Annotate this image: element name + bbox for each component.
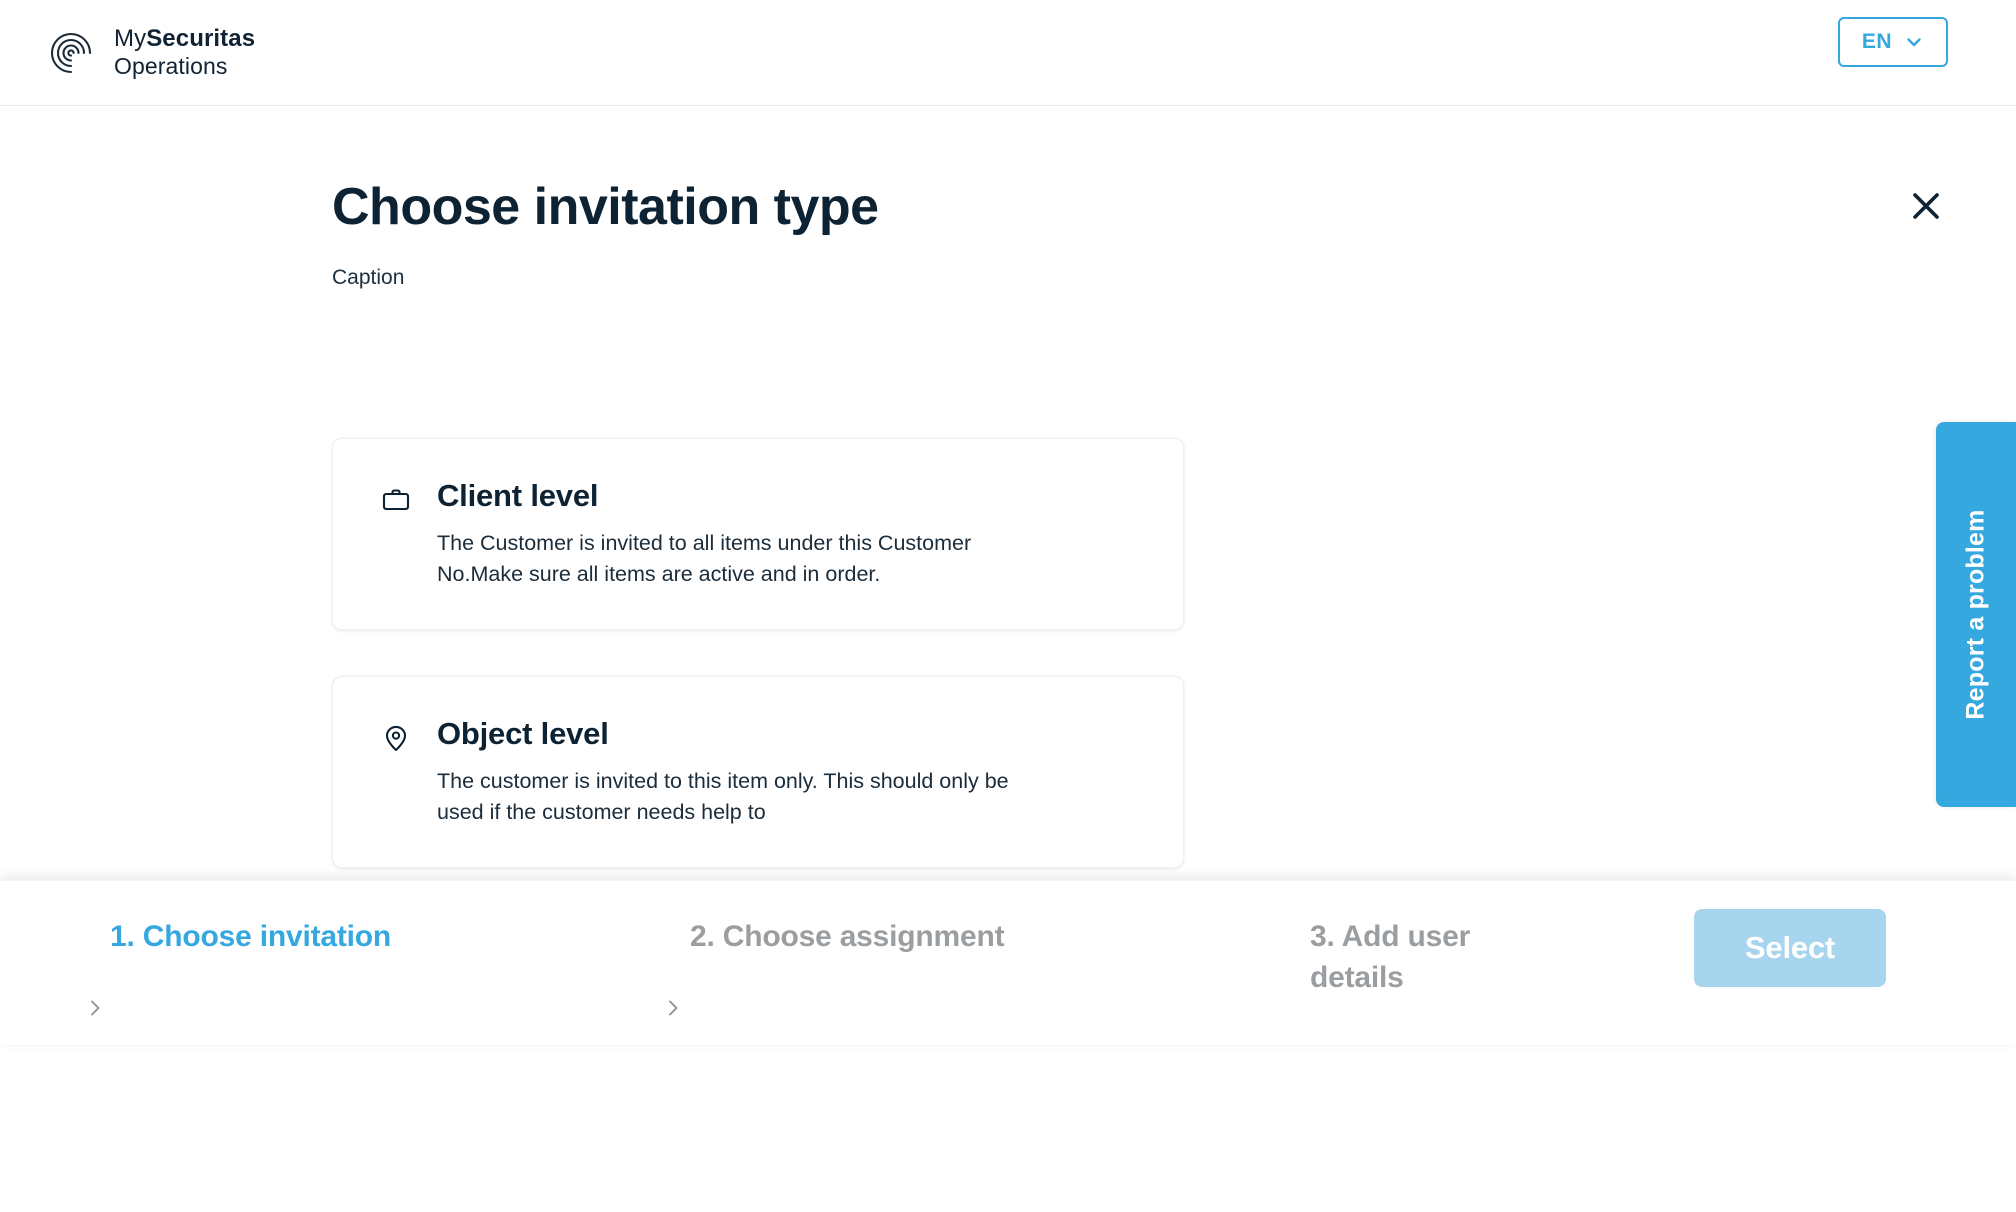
- language-selector[interactable]: EN: [1838, 17, 1948, 67]
- step-1-choose-invitation[interactable]: 1. Choose invitation: [110, 917, 510, 958]
- report-a-problem-label: Report a problem: [1962, 509, 1991, 719]
- modal-header: Choose invitation type Caption: [332, 178, 1892, 290]
- brand-text: MySecuritas Operations: [114, 25, 255, 80]
- option-body: Object level The customer is invited to …: [437, 715, 1139, 827]
- page-caption: Caption: [332, 266, 1892, 290]
- option-card-object-level[interactable]: Object level The customer is invited to …: [332, 676, 1184, 868]
- page-title: Choose invitation type: [332, 178, 1892, 236]
- close-icon: [1909, 189, 1943, 223]
- option-card-client-level[interactable]: Client level The Customer is invited to …: [332, 438, 1184, 630]
- chevron-down-icon: [1904, 32, 1924, 52]
- app-root: MySecuritas Operations EN Choose invitat…: [0, 0, 2016, 1212]
- chevron-right-icon: [662, 997, 684, 1019]
- app-header: MySecuritas Operations EN: [0, 0, 2016, 106]
- wizard-steps: 1. Choose invitation 2. Choose assignmen…: [0, 881, 2016, 1046]
- select-button[interactable]: Select: [1694, 909, 1886, 987]
- close-button[interactable]: [1900, 180, 1952, 232]
- brand-logo-block: MySecuritas Operations: [46, 25, 255, 80]
- language-code: EN: [1862, 30, 1892, 54]
- option-description: The customer is invited to this item onl…: [437, 766, 1037, 827]
- invitation-type-options: Client level The Customer is invited to …: [332, 438, 1184, 868]
- option-description: The Customer is invited to all items und…: [437, 528, 1037, 589]
- wizard-footer: 1. Choose invitation 2. Choose assignmen…: [0, 880, 2016, 1045]
- step-3-add-user-details[interactable]: 3. Add user details: [1310, 917, 1570, 998]
- brand-subtitle: Operations: [114, 53, 255, 80]
- briefcase-icon: [381, 477, 415, 589]
- brand-title: MySecuritas: [114, 25, 255, 53]
- chevron-right-icon: [84, 997, 106, 1019]
- option-title: Client level: [437, 477, 1139, 514]
- map-pin-icon: [381, 715, 415, 827]
- report-a-problem-tab[interactable]: Report a problem: [1936, 422, 2016, 807]
- option-title: Object level: [437, 715, 1139, 752]
- step-2-choose-assignment[interactable]: 2. Choose assignment: [690, 917, 1110, 958]
- securitas-spiral-logo-icon: [46, 28, 96, 78]
- option-body: Client level The Customer is invited to …: [437, 477, 1139, 589]
